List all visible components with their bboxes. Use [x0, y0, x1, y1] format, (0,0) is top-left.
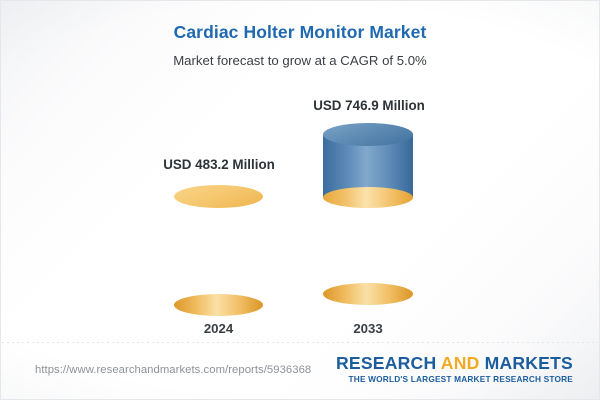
bar-segment-seam-2033 — [323, 187, 413, 208]
bar-category-label-2033: 2033 — [323, 321, 413, 336]
bar-value-label-2033: USD 746.9 Million — [289, 98, 449, 113]
logo-word-and: AND — [441, 353, 480, 373]
research-and-markets-logo[interactable]: RESEARCH AND MARKETS THE WORLD'S LARGEST… — [336, 354, 573, 384]
bar-bottom-cap-2024 — [174, 294, 263, 316]
logo-word-markets: MARKETS — [480, 353, 573, 373]
bar-body-2033-base — [323, 198, 413, 294]
bar-cylinder-2024 — [174, 185, 263, 311]
bar-top-cap-2033 — [323, 123, 413, 146]
page-title: Cardiac Holter Monitor Market — [1, 1, 599, 43]
logo-word-research: RESEARCH — [336, 353, 441, 373]
chart-header: Cardiac Holter Monitor Market Market for… — [1, 1, 599, 68]
logo-wordmark: RESEARCH AND MARKETS — [336, 354, 573, 372]
bar-value-label-2024: USD 483.2 Million — [139, 157, 299, 172]
bar-bottom-cap-2033 — [323, 283, 413, 305]
bar-category-label-2024: 2024 — [174, 321, 263, 336]
page-subtitle: Market forecast to grow at a CAGR of 5.0… — [1, 43, 599, 68]
bar-cylinder-2033 — [323, 123, 413, 311]
footer: https://www.researchandmarkets.com/repor… — [1, 343, 599, 400]
bar-body-2024-base — [174, 196, 263, 305]
logo-tagline: THE WORLD'S LARGEST MARKET RESEARCH STOR… — [336, 374, 573, 384]
report-url[interactable]: https://www.researchandmarkets.com/repor… — [35, 364, 311, 376]
bar-top-cap-2024 — [174, 185, 263, 208]
market-forecast-infographic: Cardiac Holter Monitor Market Market for… — [0, 0, 600, 400]
